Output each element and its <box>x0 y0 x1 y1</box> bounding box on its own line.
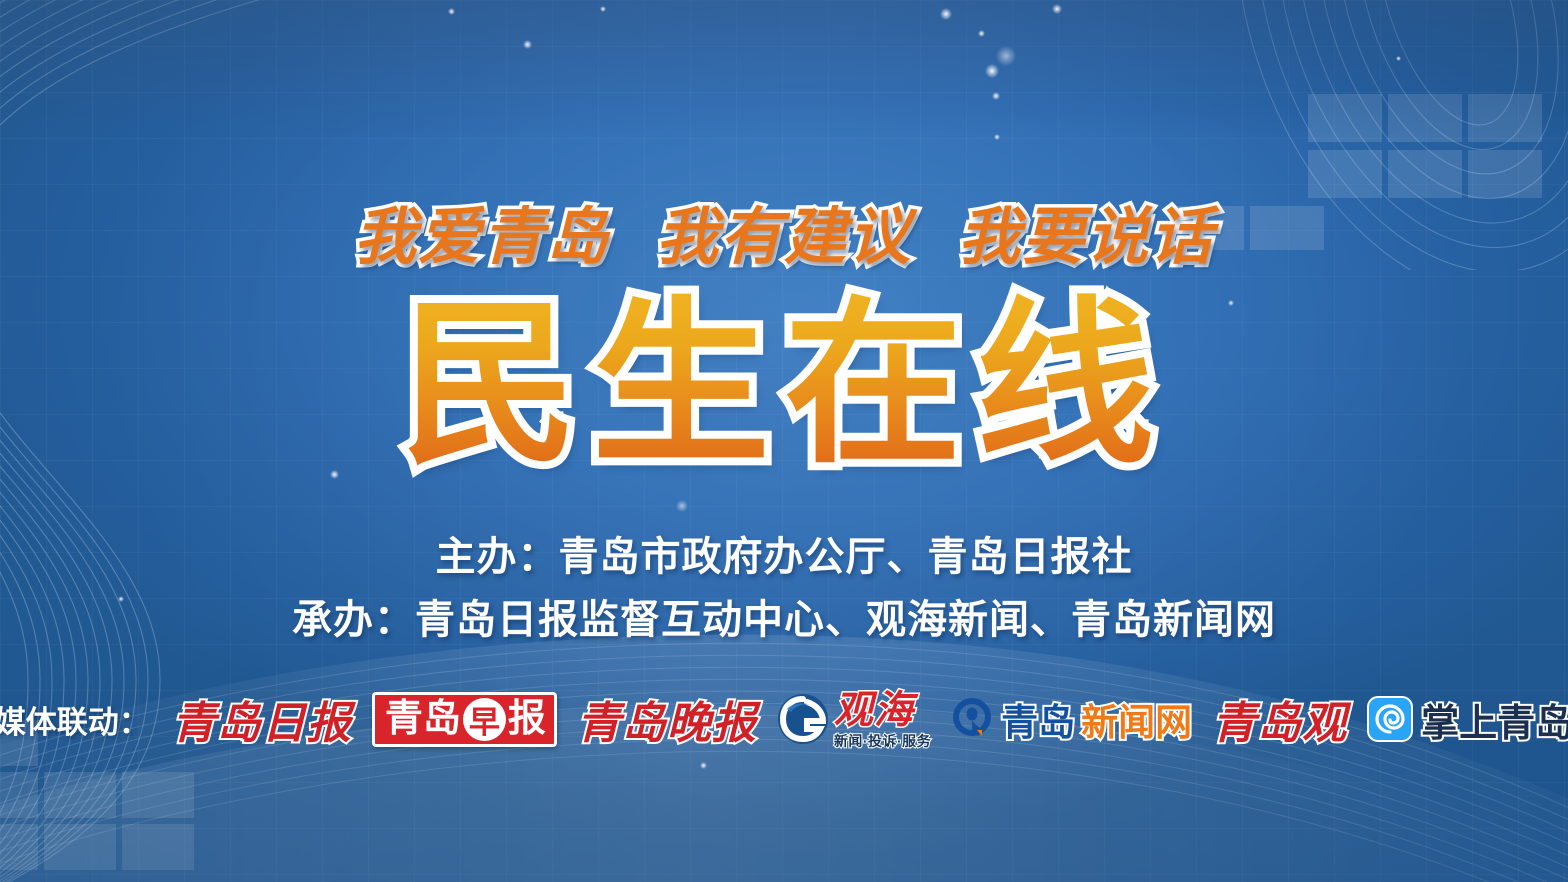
logo-qingdao-news-blue: 青岛 <box>1001 692 1075 746</box>
organizer-line: 主办：青岛市政府办公厅、青岛日报社 <box>0 526 1568 589</box>
main-title: 民生在线 民生在线 <box>0 296 1568 474</box>
organizer-block: 主办：青岛市政府办公厅、青岛日报社 承办：青岛日报监督互动中心、观海新闻、青岛新… <box>0 526 1568 652</box>
logo-qingdao-guan[interactable]: 青岛观 <box>1212 686 1347 752</box>
qingdao-news-q-icon <box>951 697 995 741</box>
logo-qingdao-zaobao[interactable]: 青岛 早 报 <box>372 686 557 752</box>
logo-zhangshang-qingdao[interactable]: 掌上青岛 <box>1367 686 1568 752</box>
tagline-part-1: 我爱青岛 <box>354 203 610 272</box>
logo-qingdao-wanbao[interactable]: 青岛晚报 <box>577 686 757 752</box>
media-partners-row: 媒体联动： 青岛日报 青岛 早 报 青岛晚报 <box>0 686 1568 752</box>
logo-qingdao-news-orange: 新闻网 <box>1081 692 1192 746</box>
logo-qingdao-ribao[interactable]: 青岛日报 <box>172 686 352 752</box>
poster-banner: 我爱青岛我有建议我要说话 民生在线 民生在线 主办：青岛市政府办公厅、青岛日报社… <box>0 0 1568 882</box>
tagline-part-3: 我要说话 <box>958 203 1214 272</box>
guanhai-text-block: 观海 新闻·投诉·服务 <box>834 691 931 748</box>
logo-qingdao-zaobao-circle: 早 <box>463 698 506 741</box>
logo-qingdao-guan-text: 青岛观 <box>1212 687 1347 751</box>
logo-guanhai[interactable]: 观海 新闻·投诉·服务 <box>777 686 931 752</box>
tagline-part-2: 我有建议 <box>656 203 912 272</box>
logo-qingdao-news[interactable]: 青岛 新闻网 <box>951 686 1192 752</box>
logo-qingdao-zaobao-right: 报 <box>508 698 546 739</box>
main-title-fill: 民生在线 <box>400 285 1168 484</box>
tagline: 我爱青岛我有建议我要说话 <box>0 186 1568 276</box>
logo-qingdao-zaobao-box: 青岛 早 报 <box>372 692 557 747</box>
logo-qingdao-ribao-text: 青岛日报 <box>172 687 352 751</box>
guanhai-g-icon <box>777 693 829 745</box>
spiral-app-icon <box>1367 696 1413 742</box>
logo-guanhai-subtitle: 新闻·投诉·服务 <box>834 734 931 748</box>
media-label: 媒体联动： <box>0 697 150 742</box>
coorganizer-line: 承办：青岛日报监督互动中心、观海新闻、青岛新闻网 <box>0 589 1568 652</box>
logo-qingdao-zaobao-left: 青岛 <box>385 698 461 739</box>
logo-qingdao-wanbao-text: 青岛晚报 <box>577 687 757 751</box>
logo-guanhai-name: 观海 <box>834 691 931 730</box>
logo-zhangshang-qingdao-text: 掌上青岛 <box>1421 692 1568 747</box>
